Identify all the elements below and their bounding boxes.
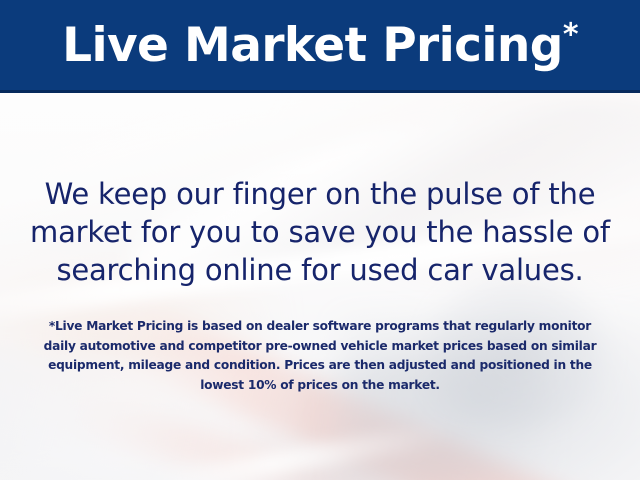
headline-line: market for you to save you the hassle of (20, 213, 620, 251)
headline: We keep our finger on the pulse of the m… (20, 175, 620, 289)
disclaimer-line: *Live Market Pricing is based on dealer … (18, 317, 622, 337)
disclaimer-line: lowest 10% of prices on the market. (18, 376, 622, 396)
content-area: We keep our finger on the pulse of the m… (0, 93, 640, 480)
disclaimer-line: daily automotive and competitor pre-owne… (18, 337, 622, 357)
live-market-pricing-banner: Live Market Pricing* We keep our finger … (0, 0, 640, 480)
disclaimer-line: equipment, mileage and condition. Prices… (18, 356, 622, 376)
headline-line: We keep our finger on the pulse of the (20, 175, 620, 213)
page-title: Live Market Pricing* (62, 22, 578, 72)
page-title-asterisk: * (563, 17, 578, 52)
header-band: Live Market Pricing* (0, 0, 640, 93)
disclaimer-footnote: *Live Market Pricing is based on dealer … (18, 317, 622, 395)
headline-line: searching online for used car values. (20, 251, 620, 289)
page-title-text: Live Market Pricing (62, 18, 563, 73)
